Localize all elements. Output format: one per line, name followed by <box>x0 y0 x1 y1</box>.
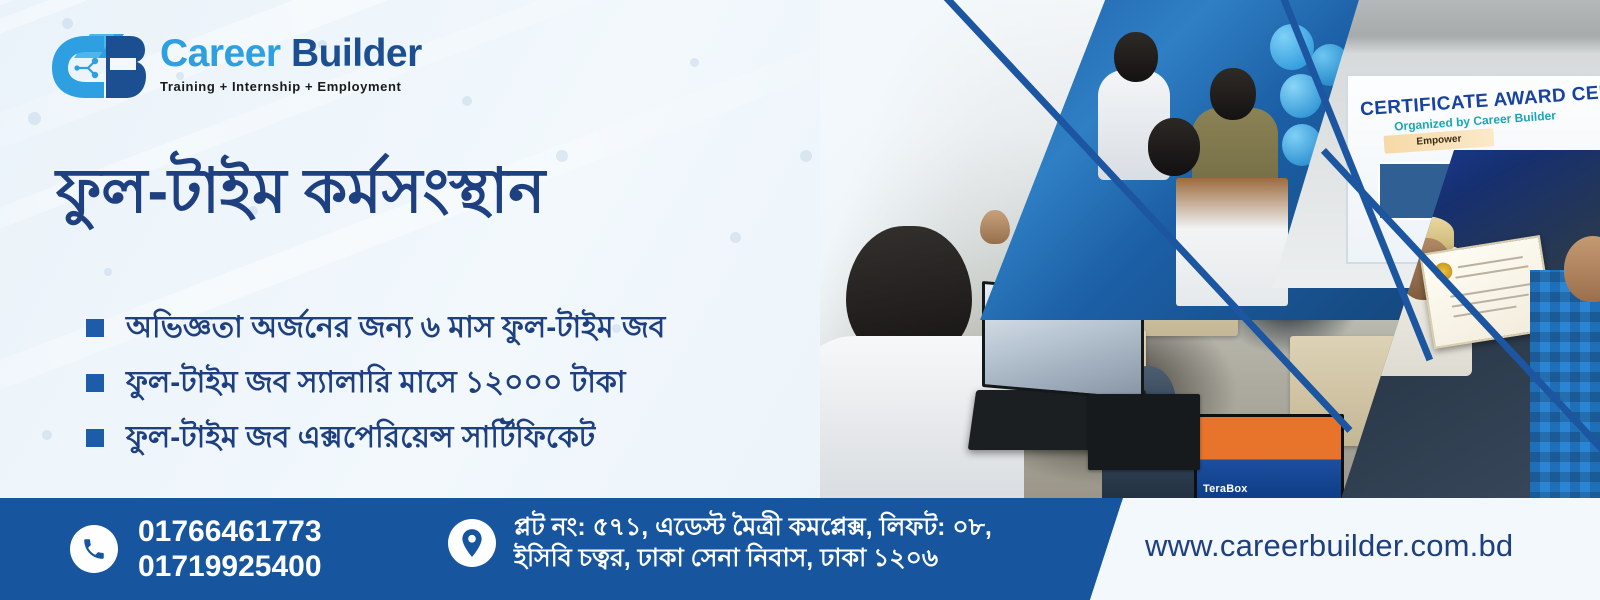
cb-monogram-icon <box>48 28 146 100</box>
screen-app-label: TeraBox <box>1203 483 1248 495</box>
bullet-square-icon <box>86 319 104 337</box>
background-dot <box>462 96 472 106</box>
speaker-head <box>1210 68 1256 120</box>
monitor <box>1088 394 1200 470</box>
brand-name: Career Builder <box>160 34 422 73</box>
address-contact[interactable]: প্লট নং: ৫৭১, এডেস্ট মৈত্রী কমপ্লেক্স, ল… <box>448 512 992 573</box>
brand-name-part2: Builder <box>291 32 422 75</box>
brand-logo[interactable]: Career Builder Training + Internship + E… <box>48 28 422 100</box>
list-item-label: ফুল-টাইম জব স্যালারি মাসে ১২০০০ টাকা <box>126 358 626 409</box>
desktop-screen: TeraBox <box>1194 414 1344 502</box>
background-dot <box>690 58 699 67</box>
brand-text: Career Builder Training + Internship + E… <box>160 34 422 94</box>
bullet-square-icon <box>86 374 104 392</box>
address-line-1: প্লট নং: ৫৭১, এডেস্ট মৈত্রী কমপ্লেক্স, ল… <box>514 512 992 543</box>
website-url[interactable]: www.careerbuilder.com.bd <box>1145 528 1513 564</box>
brand-name-part1: Career <box>160 32 281 75</box>
podium <box>1176 178 1288 306</box>
attendee-head <box>1148 118 1200 176</box>
feature-list: অভিজ্ঞতা অর্জনের জন্য ৬ মাস ফুল-টাইম জব … <box>86 306 665 471</box>
phone-numbers: 01766461773 01719925400 <box>138 514 322 585</box>
phone-number-2: 01719925400 <box>138 549 322 584</box>
page-title: ফুল-টাইম কর্মসংস্থান <box>56 158 545 226</box>
promotional-banner: ViewSonic ViewSonic <box>0 0 1600 600</box>
address-lines: প্লট নং: ৫৭১, এডেস্ট মৈত্রী কমপ্লেক্স, ল… <box>514 512 992 573</box>
background-dot <box>730 232 741 243</box>
list-item: অভিজ্ঞতা অর্জনের জন্য ৬ মাস ফুল-টাইম জব <box>86 306 665 350</box>
list-item: ফুল-টাইম জব এক্সপেরিয়েন্স সার্টিফিকেট <box>86 416 665 460</box>
phone-contact[interactable]: 01766461773 01719925400 <box>70 514 322 585</box>
trainee <box>980 210 1010 244</box>
address-line-2: ইসিবি চত্বর, ঢাকা সেনা নিবাস, ঢাকা ১২০৬ <box>514 543 992 574</box>
background-dot <box>556 150 568 162</box>
background-dot <box>42 430 52 440</box>
bullet-square-icon <box>86 429 104 447</box>
list-item-label: অভিজ্ঞতা অর্জনের জন্য ৬ মাস ফুল-টাইম জব <box>126 303 665 354</box>
speaker-head <box>1114 32 1158 82</box>
contact-footer: 01766461773 01719925400 প্লট নং: ৫৭১, এড… <box>0 498 1600 600</box>
photo-collage: ViewSonic ViewSonic <box>820 0 1600 502</box>
background-dot <box>28 112 41 125</box>
location-pin-icon <box>448 519 496 567</box>
phone-number-1: 01766461773 <box>138 514 322 549</box>
phone-icon <box>70 525 118 573</box>
background-dot <box>104 268 112 276</box>
list-item: ফুল-টাইম জব স্যালারি মাসে ১২০০০ টাকা <box>86 361 665 405</box>
brand-tagline: Training + Internship + Employment <box>160 79 422 94</box>
background-dot <box>800 150 812 162</box>
list-item-label: ফুল-টাইম জব এক্সপেরিয়েন্স সার্টিফিকেট <box>126 413 595 464</box>
